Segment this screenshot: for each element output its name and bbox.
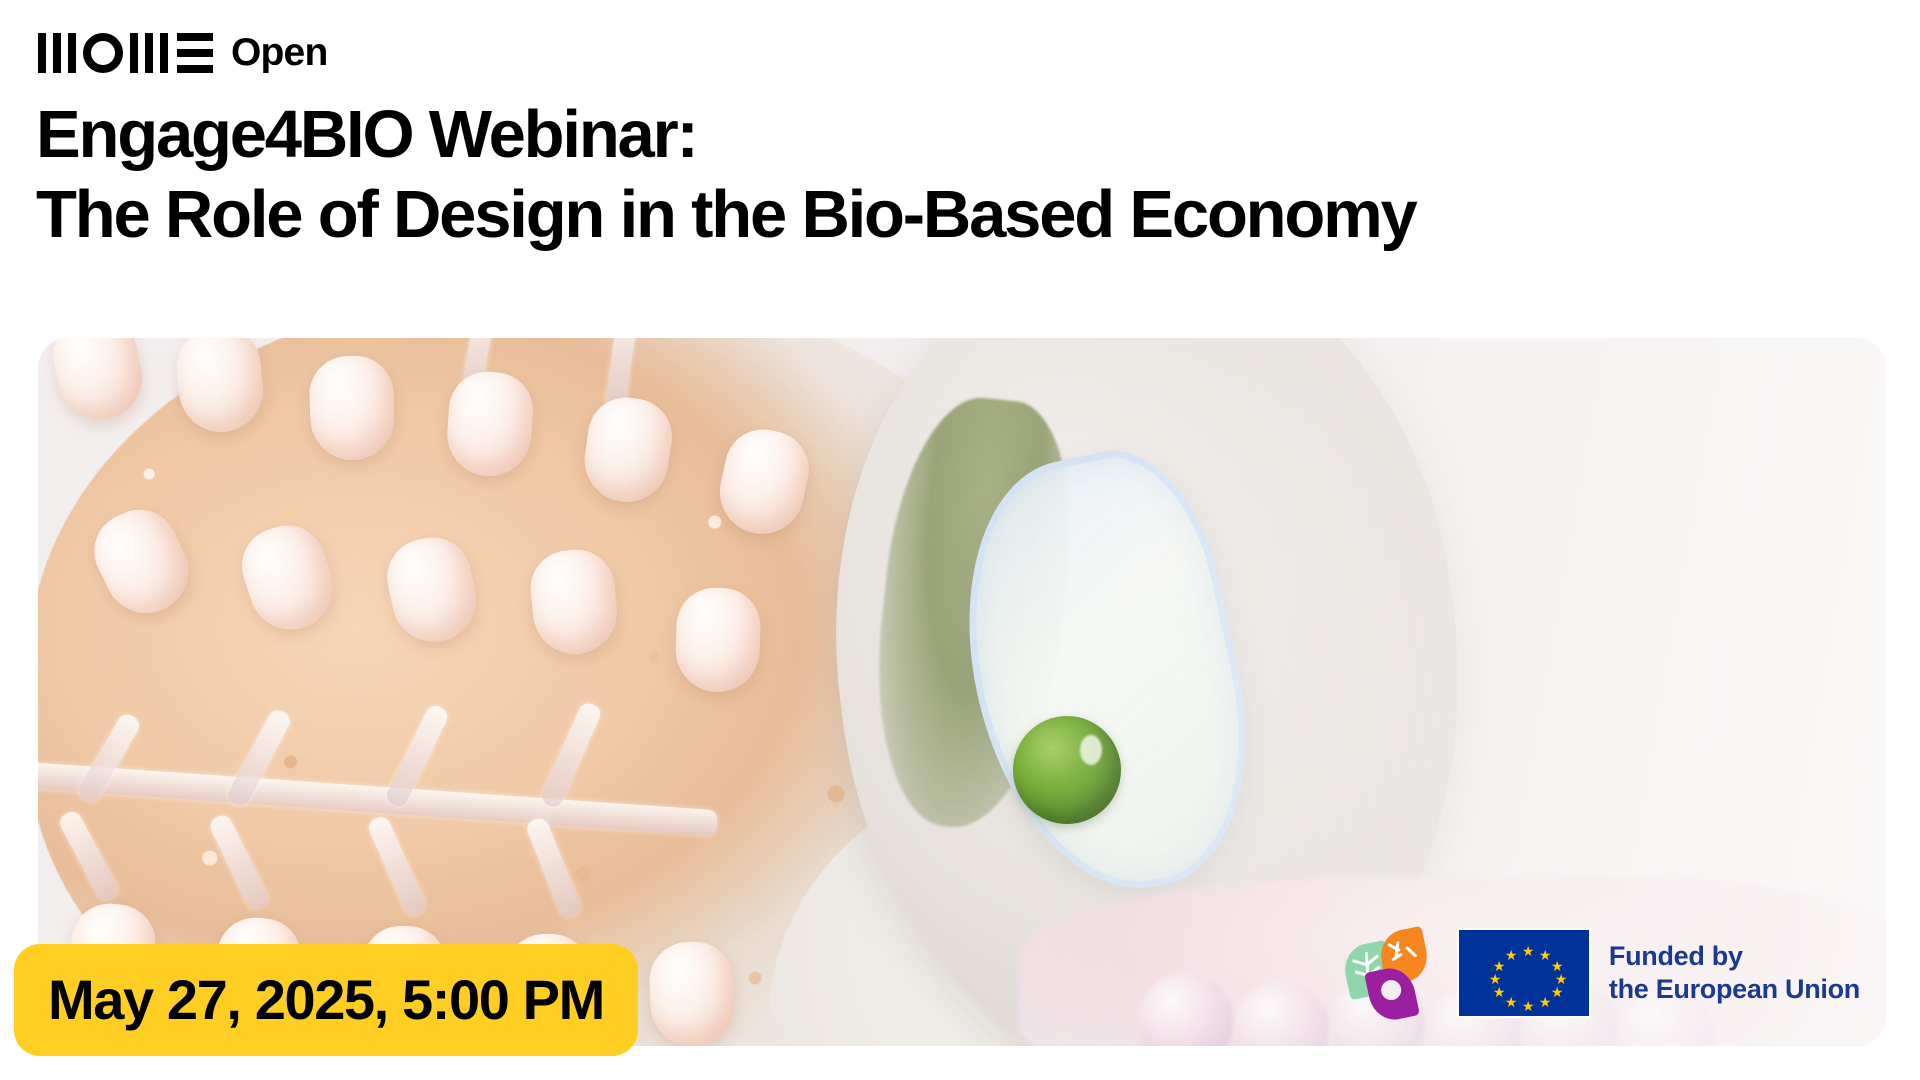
bio-bead (46, 338, 150, 428)
mome-logomark-icon (38, 33, 213, 73)
bio-bead (674, 587, 762, 694)
hero-image: ★ ★ ★ ★ ★ ★ ★ ★ ★ ★ ★ ★ Funded by the Eu… (38, 338, 1886, 1046)
date-badge: May 27, 2025, 5:00 PM (14, 944, 638, 1056)
eu-flag-icon: ★ ★ ★ ★ ★ ★ ★ ★ ★ ★ ★ ★ (1457, 928, 1591, 1018)
funding-text: Funded by the European Union (1609, 940, 1860, 1006)
page-title-line-1: Engage4BIO Webinar: (36, 95, 1896, 175)
green-sphere (1013, 716, 1121, 824)
brand-logo[interactable]: Open (38, 30, 327, 76)
bio-bead (648, 941, 736, 1046)
brand-logo-word: Open (231, 33, 327, 73)
page-title-line-2: The Role of Design in the Bio-Based Econ… (36, 175, 1896, 255)
bio-bead (308, 355, 396, 462)
funding-text-line-1: Funded by (1609, 940, 1860, 973)
funding-credit: ★ ★ ★ ★ ★ ★ ★ ★ ★ ★ ★ ★ Funded by the Eu… (1345, 928, 1860, 1018)
page-title: Engage4BIO Webinar: The Role of Design i… (36, 95, 1896, 255)
project-logo-icon (1345, 930, 1439, 1016)
date-badge-text: May 27, 2025, 5:00 PM (48, 972, 604, 1028)
webinar-announcement-poster: Open Engage4BIO Webinar: The Role of Des… (0, 0, 1920, 1080)
funding-text-line-2: the European Union (1609, 973, 1860, 1006)
